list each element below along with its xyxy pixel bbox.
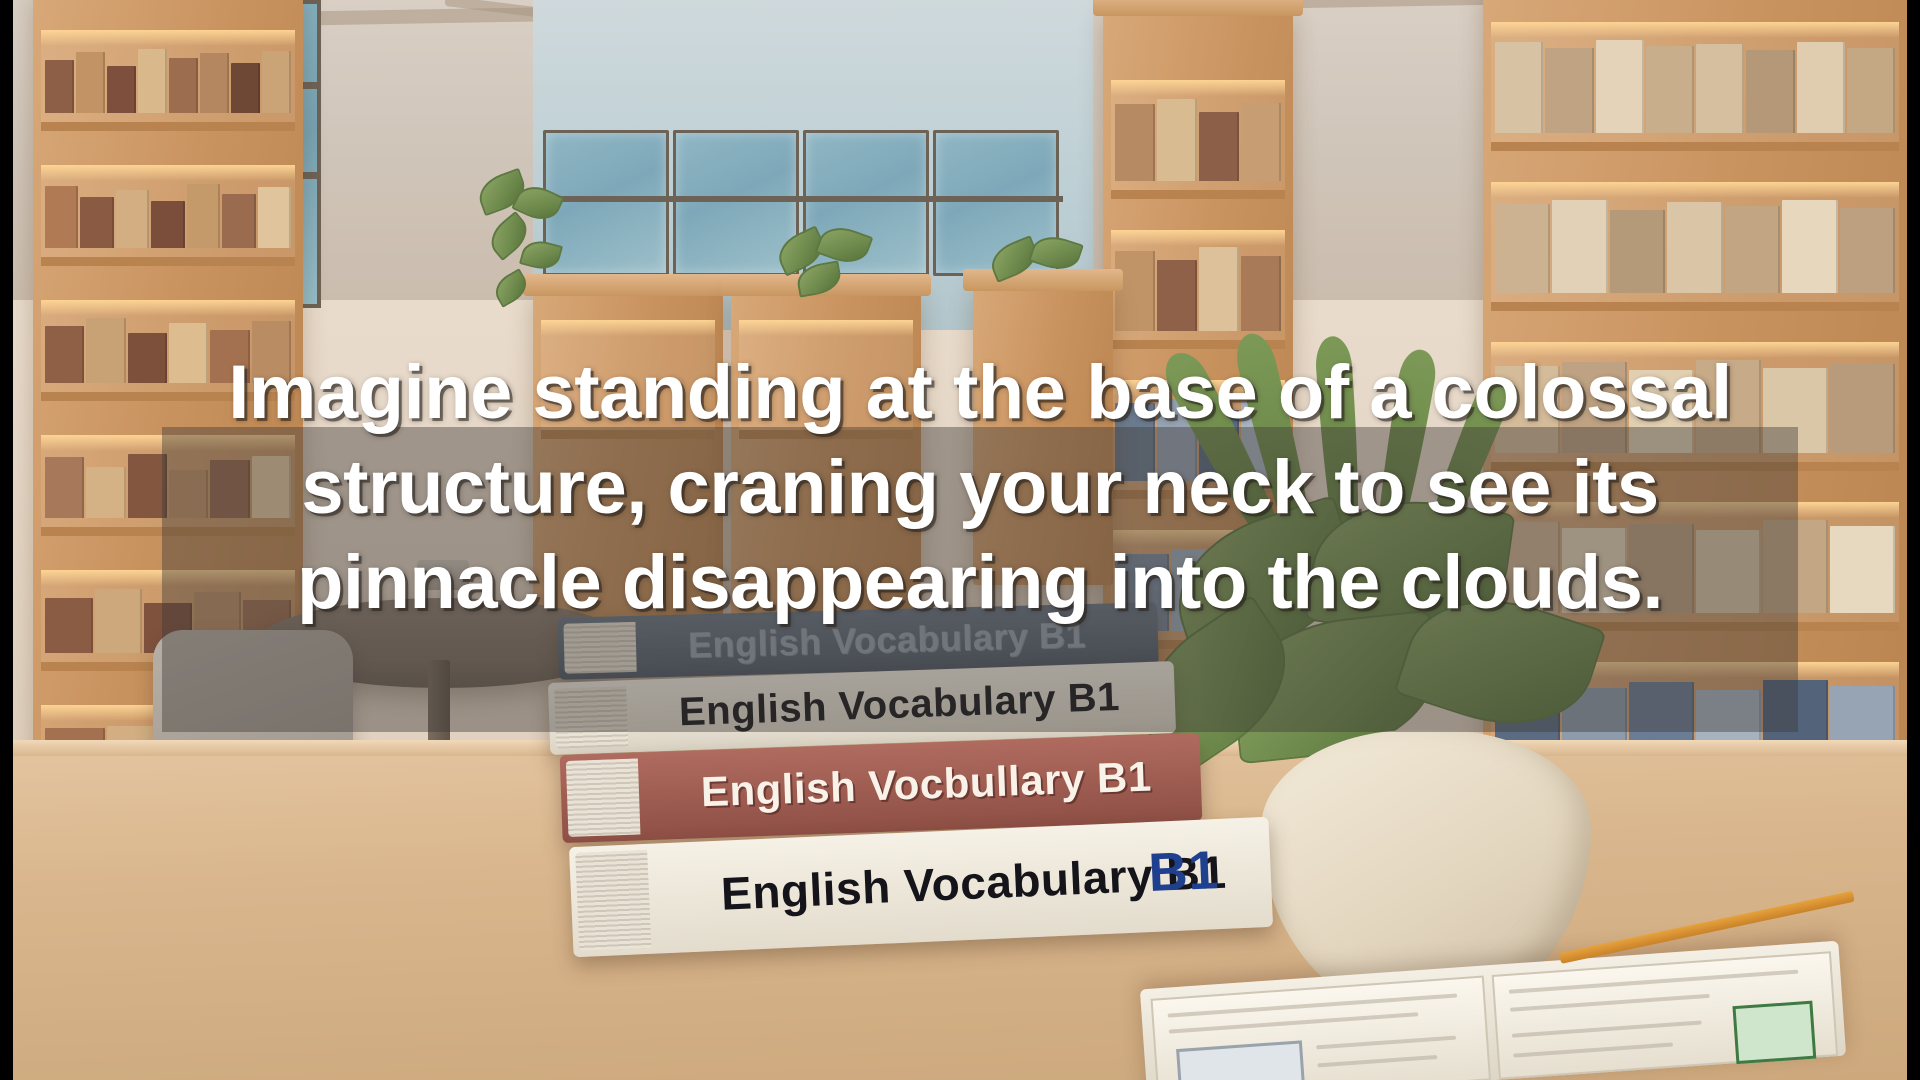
book-spine <box>1495 42 1543 133</box>
book-spine <box>1199 247 1239 331</box>
book-pages <box>566 758 641 836</box>
book-spine <box>86 467 125 518</box>
bookshelf-shelf <box>41 165 295 266</box>
bookshelf-shelf <box>41 30 295 131</box>
book-spine <box>1746 50 1794 133</box>
diagram-box <box>1176 1040 1305 1080</box>
book-spine <box>1199 112 1239 181</box>
book-spine <box>169 58 198 113</box>
open-book-page-right <box>1492 951 1838 1079</box>
book-spine <box>200 53 229 113</box>
text-line <box>1510 994 1710 1012</box>
book-spine <box>1725 206 1780 293</box>
hanging-plant-right <box>988 235 1098 325</box>
book-spine <box>151 201 184 248</box>
bookshelf-shelf <box>1491 182 1899 311</box>
book-spine <box>1241 103 1281 181</box>
book-spine <box>86 318 125 383</box>
book-spine <box>128 333 167 383</box>
book-spine <box>1667 202 1722 293</box>
book-spine <box>95 589 143 653</box>
book-spine <box>1157 260 1197 331</box>
book-spine <box>1552 200 1607 293</box>
book-spine <box>231 63 260 113</box>
hanging-plant-left <box>468 175 578 335</box>
book-spine <box>1782 200 1837 293</box>
window-mullion <box>533 196 1063 202</box>
book-spine <box>1797 42 1845 133</box>
highlight-box <box>1732 1001 1816 1064</box>
plant-leaf <box>519 237 563 274</box>
book-spine <box>252 321 291 383</box>
books-row <box>1495 34 1895 133</box>
text-line <box>1509 970 1799 994</box>
shelf-light-glow <box>739 320 913 336</box>
book-spine <box>262 51 291 113</box>
book-spine <box>76 52 105 113</box>
cabinet-shelf <box>541 320 715 439</box>
book-spine <box>116 190 149 248</box>
book-spine <box>222 194 255 248</box>
book-spine <box>1610 210 1665 293</box>
book-spine <box>1545 48 1593 133</box>
book-spine <box>107 66 136 113</box>
bookshelf-shelf <box>41 300 295 401</box>
book-level-badge: B1 <box>1147 839 1220 904</box>
open-book-page-left <box>1151 976 1492 1080</box>
book-spine <box>187 184 220 248</box>
books-row <box>1115 92 1281 181</box>
plant-leaf <box>490 268 532 308</box>
book-spine <box>258 187 291 248</box>
book-spine <box>1115 251 1155 331</box>
text-line <box>1317 1055 1437 1067</box>
letterbox-bar-left <box>0 0 13 1080</box>
books-row <box>45 312 291 383</box>
caption-overlay-band <box>162 427 1798 732</box>
book-spine <box>1696 44 1744 133</box>
letterbox-bar-right <box>1907 0 1920 1080</box>
book-spine <box>80 197 113 248</box>
video-frame: English Vocabulary B1 English Vocabulary… <box>0 0 1920 1080</box>
book-spine <box>1830 526 1895 613</box>
books-row <box>45 177 291 248</box>
bookshelf-shelf <box>1491 22 1899 151</box>
bookcase-cornice <box>1093 0 1303 16</box>
hanging-plant-center <box>773 228 883 318</box>
books-row <box>1115 242 1281 331</box>
book-spine <box>45 598 93 653</box>
book-spine <box>45 457 84 518</box>
text-line <box>1169 1012 1419 1033</box>
book-spine <box>1115 104 1155 181</box>
book-title: English Vocbullary B1 <box>700 753 1152 817</box>
books-row <box>45 42 291 113</box>
cabinet-shelf <box>739 320 913 439</box>
book-spine <box>1241 256 1281 331</box>
book-spine <box>169 323 208 383</box>
book-spine <box>210 330 249 383</box>
books-row <box>1495 194 1895 293</box>
book-spine <box>1495 204 1550 293</box>
book-pages <box>575 850 651 951</box>
book-spine <box>1840 208 1895 293</box>
book-spine <box>1830 364 1895 453</box>
text-line <box>1316 1036 1456 1050</box>
plant-leaf <box>1028 230 1084 275</box>
book-spine <box>1157 99 1197 181</box>
book-spine <box>138 49 167 113</box>
text-line <box>1513 1043 1673 1058</box>
book-spine <box>45 60 74 113</box>
book-spine <box>1596 40 1644 133</box>
book-spine <box>45 326 84 383</box>
book-spine <box>45 186 78 248</box>
book-spine <box>1646 46 1694 133</box>
bookshelf-shelf <box>1111 80 1285 199</box>
text-line <box>1512 1020 1702 1037</box>
book-spine <box>1847 48 1895 133</box>
